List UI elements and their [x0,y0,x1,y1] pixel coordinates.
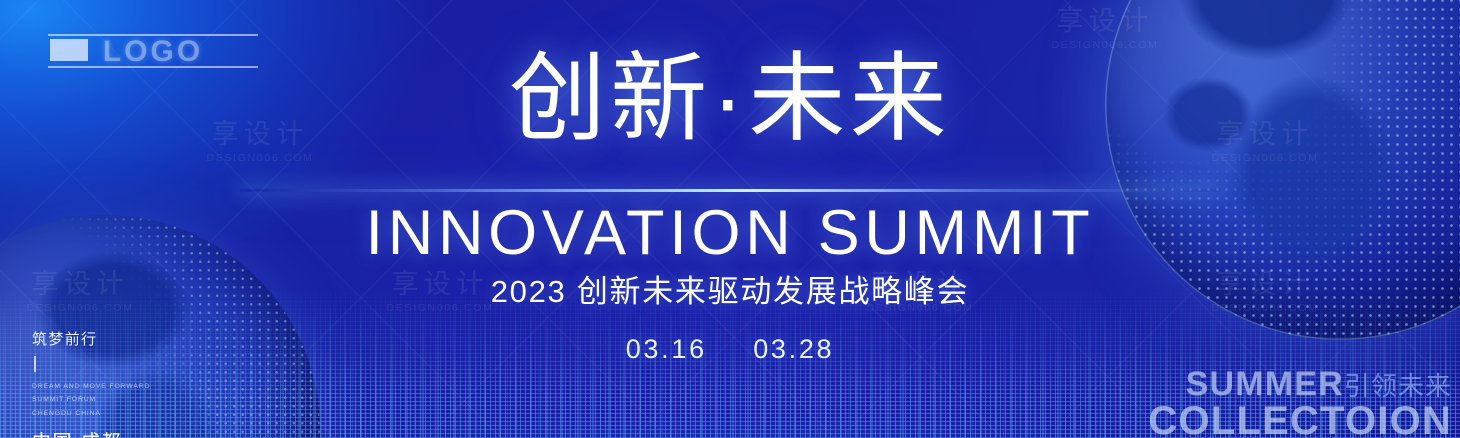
watermark-domain: DESIGN006.COM [180,152,340,165]
headline-block: 创新·未来 [0,48,1460,150]
main-title-english: INNOVATION SUMMIT [0,197,1460,269]
event-info-block: 筑梦前行 DREAM AND MOVE FORWARD SUMMIT FORUM… [32,328,150,438]
collection-collectoion-text: COLLECTOION [1148,401,1452,438]
info-slogan-chinese: 筑梦前行 [32,328,150,349]
collection-chinese-text: 引领未来 [1344,373,1452,400]
info-english-line-3: CHENGDU CHINA [32,407,150,420]
collection-row-top: SUMMER 引领未来 [1148,367,1452,402]
info-english-line-1: DREAM AND MOVE FORWARD [32,380,150,393]
info-english-line-2: SUMMIT FORUM [32,393,150,406]
event-poster-banner: 享设计DESIGN006.COM享设计DESIGN006.COM享设计DESIG… [0,0,1460,438]
subtitle-chinese: 2023 创新未来驱动发展战略峰会 [0,266,1460,311]
date-end: 03.28 [753,334,834,364]
info-location-chinese: 中国·成都 [32,427,150,438]
glow-divider-line [240,189,1220,192]
main-title-chinese: 创新·未来 [0,48,1460,150]
date-start: 03.16 [626,334,707,364]
collection-row-bottom: COLLECTOION [1148,401,1452,438]
event-dates: 03.16 03.28 [0,334,1460,365]
collection-label-block: SUMMER 引领未来 COLLECTOION [1148,367,1452,438]
info-vertical-rule [34,356,36,372]
collection-summer-text: SUMMER [1186,367,1344,402]
